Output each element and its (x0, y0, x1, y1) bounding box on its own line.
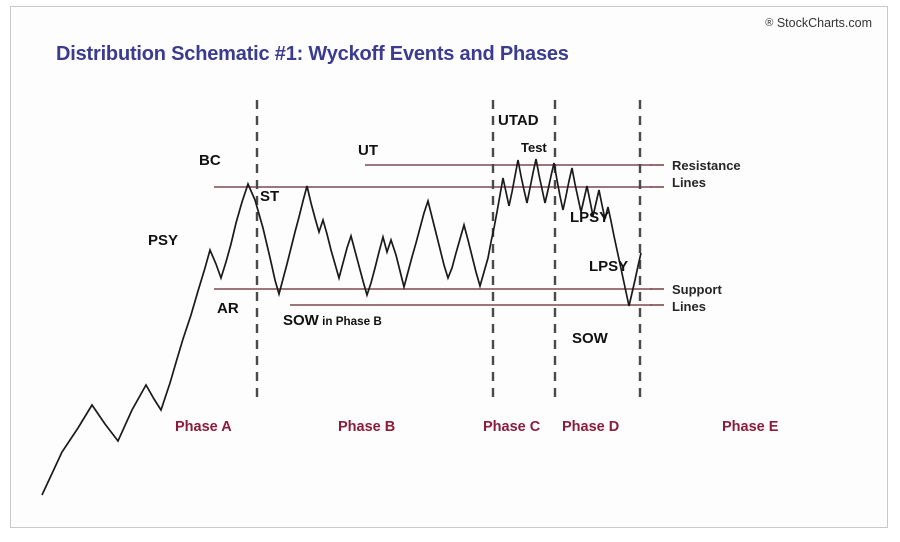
event-label-ar: AR (217, 300, 239, 317)
event-label-ut: UT (358, 142, 378, 159)
phase-label-e: Phase E (722, 419, 778, 435)
event-label-text: SOW (572, 330, 608, 347)
event-label-text: PSY (148, 232, 178, 249)
event-label-lpsy2: LPSY (589, 258, 628, 275)
event-label-bc: BC (199, 152, 221, 169)
phase-divider-group (257, 100, 640, 398)
event-label-text: AR (217, 300, 239, 317)
event-label-lpsy1: LPSY (570, 209, 609, 226)
wyckoff-distribution-schematic: ® StockCharts.com Distribution Schematic… (0, 0, 900, 542)
resistance-legend-line1: Resistance (672, 157, 741, 174)
event-label-st: ST (260, 188, 279, 205)
support-lines-legend: Support Lines (672, 281, 722, 315)
resistance-lines-legend: Resistance Lines (672, 157, 741, 191)
event-label-test: Test (521, 140, 547, 155)
resistance-legend-line2: Lines (672, 174, 741, 191)
event-label-text: Test (521, 140, 547, 155)
event-label-text: BC (199, 152, 221, 169)
phase-label-d: Phase D (562, 419, 619, 435)
event-label-text: LPSY (589, 258, 628, 275)
chart-canvas (0, 0, 900, 542)
phase-label-a: Phase A (175, 419, 232, 435)
event-label-psy: PSY (148, 232, 178, 249)
event-label-text: SOW (283, 312, 319, 329)
event-label-text: UT (358, 142, 378, 159)
event-label-sow-d: SOW (572, 330, 608, 347)
event-label-sow-b: SOW in Phase B (283, 312, 382, 329)
support-legend-line2: Lines (672, 298, 722, 315)
event-label-text: LPSY (570, 209, 609, 226)
event-label-utad: UTAD (498, 112, 539, 129)
event-label-text: UTAD (498, 112, 539, 129)
legend-tick-group (650, 165, 664, 305)
event-label-subtext: in Phase B (319, 315, 382, 328)
phase-label-b: Phase B (338, 419, 395, 435)
event-label-text: ST (260, 188, 279, 205)
phase-label-c: Phase C (483, 419, 540, 435)
support-legend-line1: Support (672, 281, 722, 298)
